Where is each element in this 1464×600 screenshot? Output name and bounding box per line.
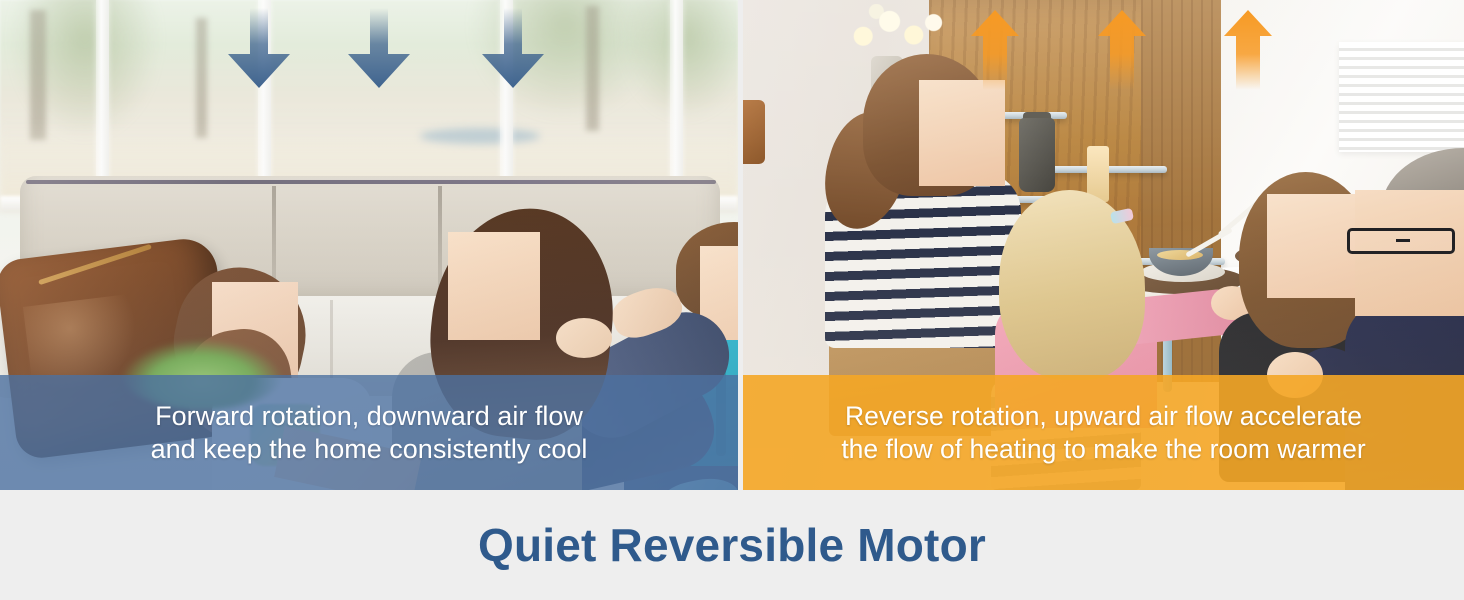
caption-forward-rotation: Forward rotation, downward air flowand k… bbox=[0, 375, 738, 490]
upward-airflow-arrow bbox=[971, 10, 1019, 90]
caption-reverse-text: Reverse rotation, upward air flow accele… bbox=[743, 400, 1464, 465]
downward-airflow-arrow bbox=[348, 8, 410, 88]
panel-reverse-rotation: Reverse rotation, upward air flow accele… bbox=[743, 0, 1464, 490]
upward-airflow-arrow bbox=[1098, 10, 1146, 90]
downward-airflow-arrow bbox=[482, 8, 544, 88]
headline-area: Quiet Reversible Motor bbox=[0, 490, 1464, 600]
comparison-panels: Forward rotation, downward air flowand k… bbox=[0, 0, 1464, 490]
page-title: Quiet Reversible Motor bbox=[478, 518, 986, 572]
caption-forward-text: Forward rotation, downward air flowand k… bbox=[0, 400, 738, 466]
downward-airflow-arrow bbox=[228, 8, 290, 88]
panel-divider bbox=[738, 0, 743, 490]
product-feature-banner: Forward rotation, downward air flowand k… bbox=[0, 0, 1464, 600]
upward-airflow-arrow bbox=[1224, 10, 1272, 90]
caption-reverse-rotation: Reverse rotation, upward air flow accele… bbox=[743, 375, 1464, 490]
panel-forward-rotation: Forward rotation, downward air flowand k… bbox=[0, 0, 738, 490]
